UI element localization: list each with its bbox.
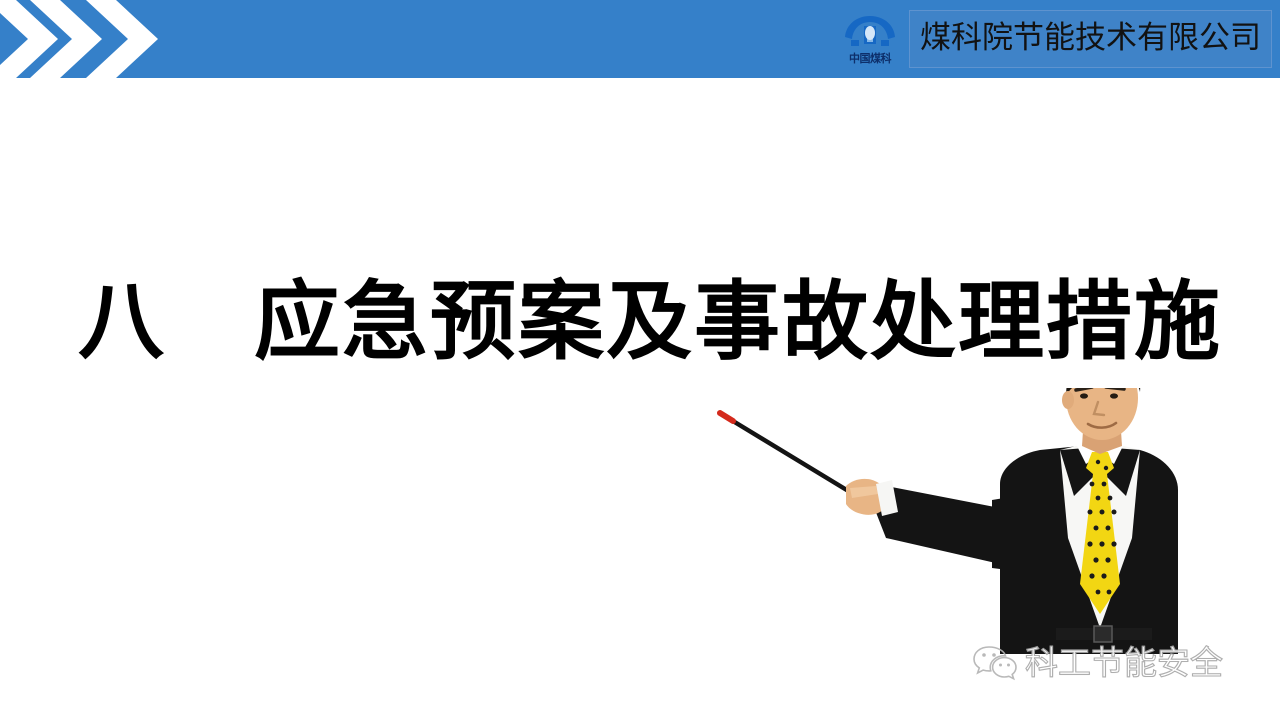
zhongguo-meike-logo-icon: 中国煤科	[837, 8, 903, 70]
watermark-text: 科工节能安全	[1025, 645, 1223, 681]
wechat-watermark: 科工节能安全	[972, 643, 1223, 683]
logo-caption: 中国煤科	[849, 52, 891, 65]
logo-glyph	[842, 14, 898, 52]
brand-group: 中国煤科 煤科院节能技术有限公司	[837, 2, 1272, 76]
pointer-stick	[720, 413, 850, 492]
wechat-icon	[972, 643, 1018, 683]
presentation-slide: 中国煤科 煤科院节能技术有限公司 八 应急预案及事故处理措施	[0, 0, 1280, 720]
presenter-photo	[700, 388, 1200, 654]
company-name-box: 煤科院节能技术有限公司	[909, 10, 1272, 68]
slide-header-band: 中国煤科 煤科院节能技术有限公司	[0, 0, 1280, 78]
slide-title: 八 应急预案及事故处理措施	[78, 272, 1238, 372]
company-name: 煤科院节能技术有限公司	[920, 21, 1261, 55]
